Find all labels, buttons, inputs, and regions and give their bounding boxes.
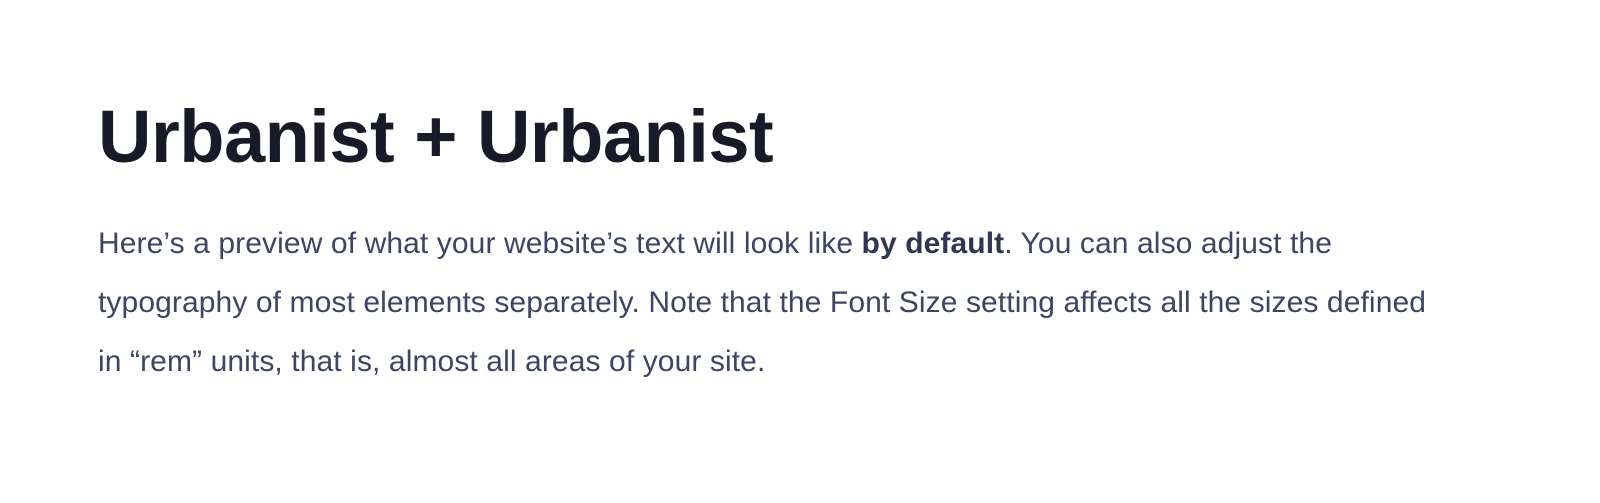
preview-body-text-before: Here’s a preview of what your website’s … <box>98 227 862 260</box>
preview-body-text-bold: by default <box>862 227 1005 260</box>
preview-body-paragraph: Here’s a preview of what your website’s … <box>98 176 1448 391</box>
font-pair-title: Urbanist + Urbanist <box>98 98 1448 176</box>
typography-preview-panel: Urbanist + Urbanist Here’s a preview of … <box>0 0 1600 503</box>
typography-preview-content: Urbanist + Urbanist Here’s a preview of … <box>98 98 1448 391</box>
